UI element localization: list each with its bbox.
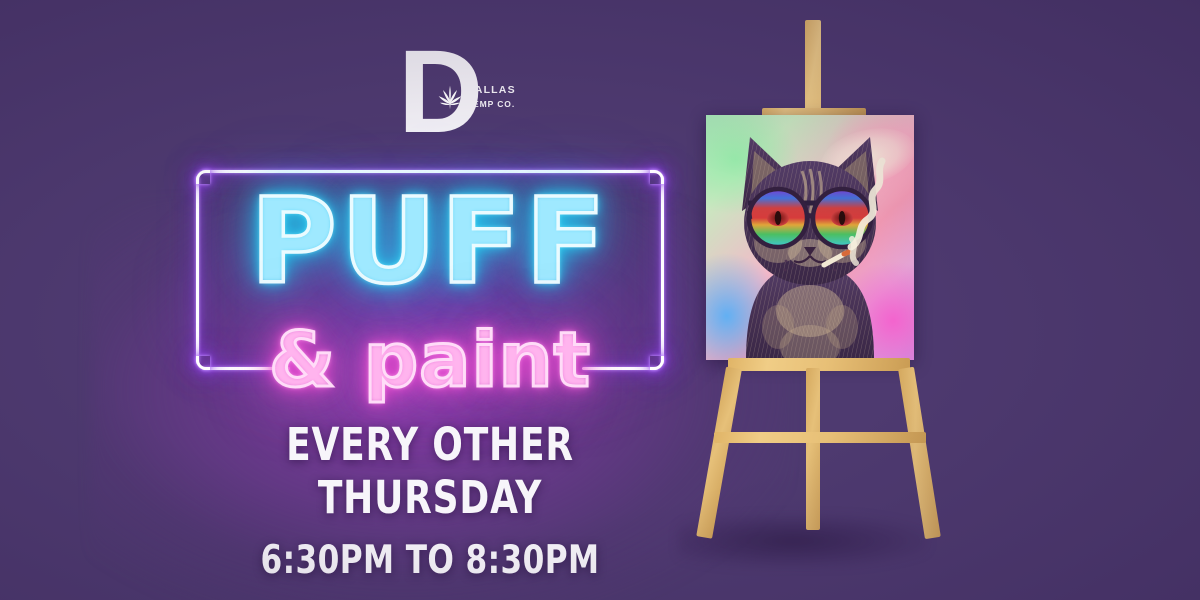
neon-title: PUFF — [196, 178, 664, 305]
easel-shadow — [678, 515, 928, 567]
cat-painting — [706, 115, 914, 360]
smoke-wisp-lower — [852, 239, 856, 263]
cat-artwork-svg — [706, 115, 914, 360]
event-day: EVERY OTHER THURSDAY — [206, 418, 654, 524]
neon-subtitle: & paint — [196, 320, 664, 400]
logo-wordmark: DALLAS HEMP CO. — [466, 83, 516, 111]
cannabis-leaf-icon — [436, 83, 464, 111]
easel-illustration — [660, 20, 960, 590]
brand-logo: D DALLAS HEMP CO. — [398, 45, 528, 140]
easel-cross-brace — [714, 432, 926, 443]
logo-line-2: HEMP CO. — [466, 98, 516, 110]
event-banner: D DALLAS HEMP CO. PUF — [0, 0, 1200, 600]
event-schedule: EVERY OTHER THURSDAY 6:30PM TO 8:30PM — [150, 418, 710, 583]
easel-leg-right — [898, 367, 941, 539]
easel-leg-left — [696, 367, 742, 539]
logo-line-1: DALLAS — [466, 83, 516, 98]
event-time: 6:30PM TO 8:30PM — [206, 538, 654, 583]
easel-leg-center — [806, 368, 820, 530]
